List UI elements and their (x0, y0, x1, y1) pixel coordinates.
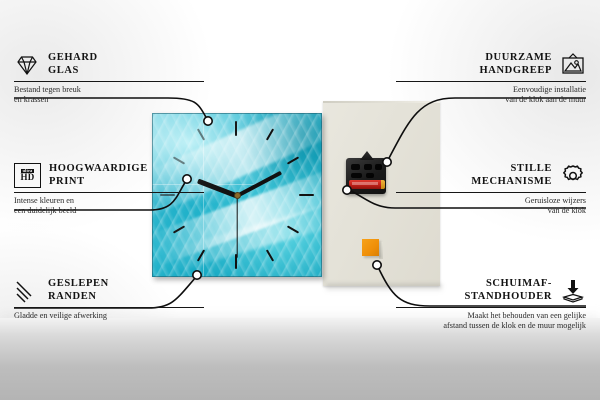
feature-title: STILLE MECHANISME (471, 163, 552, 189)
connector-dot-gehard-glas (204, 117, 212, 125)
feature-header: STILLE MECHANISME (396, 163, 586, 189)
connector-dot-schuimafstandhouder (373, 261, 381, 269)
feature-title-line2: GLAS (48, 65, 98, 78)
infographic-canvas: GEHARD GLAS Bestand tegen breuk en krass… (0, 0, 600, 400)
feature-title-line1: DUURZAME (480, 52, 553, 65)
feature-header: GESLEPEN RANDEN (14, 278, 204, 304)
feature-divider (396, 81, 586, 82)
feature-divider (14, 81, 204, 82)
feature-title: DUURZAME HANDGREEP (480, 52, 553, 78)
feature-duurzame-handgreep: DUURZAME HANDGREEP Eenvoudige installati… (396, 52, 586, 106)
ultra-hd-icon-large-text: HD (20, 173, 34, 182)
feature-title-line1: GEHARD (48, 52, 98, 65)
feature-desc-line1: Maakt het behouden van een gelijke (396, 311, 586, 322)
feature-desc-line2: van de klok aan de muur (396, 95, 586, 106)
feature-title-line2: PRINT (49, 176, 148, 189)
feature-desc-line1: Geruisloze wijzers (396, 196, 586, 207)
feature-header: DUURZAME HANDGREEP (396, 52, 586, 78)
feature-divider (14, 192, 204, 193)
feature-title-line1: GESLEPEN (48, 278, 109, 291)
feature-desc-line2: een duidelijk beeld (14, 206, 204, 217)
feature-hoogwaardige-print: ultra HD HOOGWAARDIGE PRINT Intense kleu… (14, 163, 204, 217)
picture-frame-icon (560, 53, 586, 77)
feature-desc-line1: Gladde en veilige afwerking (14, 311, 204, 322)
gear-icon (560, 164, 586, 188)
feature-title: HOOGWAARDIGE PRINT (49, 163, 148, 189)
feature-desc-line1: Intense kleuren en (14, 196, 204, 207)
feature-description: Gladde en veilige afwerking (14, 311, 204, 322)
ultra-hd-icon: ultra HD (14, 163, 41, 188)
connector-dot-stille-mechanisme (343, 186, 351, 194)
feature-schuimafstandhouder: SCHUIMAF- STANDHOUDER Maakt het behouden… (396, 278, 586, 332)
feature-gehard-glas: GEHARD GLAS Bestand tegen breuk en krass… (14, 52, 204, 106)
feature-divider (396, 192, 586, 193)
feature-description: Intense kleuren en een duidelijk beeld (14, 196, 204, 217)
feature-desc-line2: afstand tussen de klok en de muur mogeli… (396, 321, 586, 332)
arrow-down-pad-icon (560, 279, 586, 303)
feature-desc-line1: Eenvoudige installatie (396, 85, 586, 96)
feature-desc-line1: Bestand tegen breuk (14, 85, 204, 96)
connector-line-duurzame-handgreep (388, 98, 586, 160)
feature-title-line2: RANDEN (48, 291, 109, 304)
feature-title: SCHUIMAF- STANDHOUDER (465, 278, 553, 304)
diamond-icon (14, 53, 40, 77)
feature-divider (396, 307, 586, 308)
diagonal-lines-icon (14, 279, 40, 303)
feature-description: Geruisloze wijzers van de klok (396, 196, 586, 217)
feature-title-line2: MECHANISME (471, 176, 552, 189)
feature-geslepen-randen: GESLEPEN RANDEN Gladde en veilige afwerk… (14, 278, 204, 321)
feature-header: ultra HD HOOGWAARDIGE PRINT (14, 163, 204, 189)
feature-header: SCHUIMAF- STANDHOUDER (396, 278, 586, 304)
feature-desc-line2: van de klok (396, 206, 586, 217)
feature-title-line1: HOOGWAARDIGE (49, 163, 148, 176)
feature-header: GEHARD GLAS (14, 52, 204, 78)
feature-desc-line2: en krassen (14, 95, 204, 106)
feature-description: Bestand tegen breuk en krassen (14, 85, 204, 106)
feature-title: GESLEPEN RANDEN (48, 278, 109, 304)
feature-title-line2: STANDHOUDER (465, 291, 553, 304)
feature-description: Maakt het behouden van een gelijke afsta… (396, 311, 586, 332)
feature-title-line1: STILLE (471, 163, 552, 176)
feature-title-line1: SCHUIMAF- (465, 278, 553, 291)
feature-stille-mechanisme: STILLE MECHANISME Geruisloze wijzers van… (396, 163, 586, 217)
feature-title: GEHARD GLAS (48, 52, 98, 78)
feature-divider (14, 307, 204, 308)
feature-description: Eenvoudige installatie van de klok aan d… (396, 85, 586, 106)
connector-dot-duurzame-handgreep (383, 158, 391, 166)
feature-title-line2: HANDGREEP (480, 65, 553, 78)
